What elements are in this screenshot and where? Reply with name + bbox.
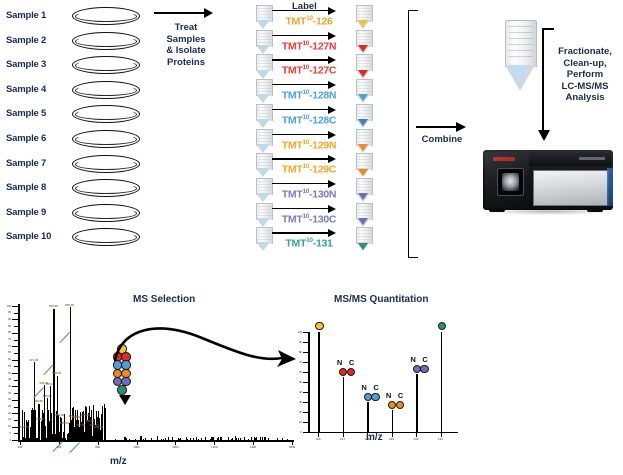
msms-x-axis-label: m/z (366, 432, 383, 443)
msms-spectrum-plot: 0102030405060708090100126127N C128N C129… (292, 304, 522, 454)
down-arrow-icon (119, 395, 131, 405)
right-arrow-icon (272, 155, 338, 163)
ms-y-tick (14, 326, 18, 327)
reporter-channel-dot (315, 322, 323, 330)
petri-dish-icon (72, 105, 140, 123)
ms-x-tick-label: 1000 (126, 445, 148, 449)
down-arrow-icon (542, 28, 544, 132)
sample-tube-icon (356, 104, 371, 128)
ms-noise-peak (254, 437, 255, 440)
ms-noise-peak (248, 439, 249, 440)
ms-peak (73, 419, 74, 440)
sample-tube-icon (356, 30, 371, 54)
msms-y-tick-label: 70 (292, 361, 302, 364)
tmt-channel-label: TMT10-130N (266, 188, 352, 201)
instrument-brand-mark (579, 157, 605, 160)
ms-y-tick-label: 20 (0, 412, 11, 415)
ms-y-tick (12, 413, 18, 414)
mass-spectrometer-icon (483, 150, 615, 218)
sample-label: Sample 3 (6, 59, 68, 70)
treat-caption-line-1: Treat (150, 22, 222, 34)
ms-y-tick (14, 353, 18, 354)
ms-peak (41, 421, 42, 440)
ms-peak-label: 604.00 (55, 413, 64, 417)
tmt-channel-label: TMT10-128N (266, 89, 352, 102)
ms-y-tick (14, 420, 18, 421)
ms-y-tick (14, 366, 18, 367)
ms-y-tick (12, 427, 18, 428)
sample-label: Sample 10 (6, 231, 68, 242)
tmt-channel-row: TMT10-128C (250, 104, 410, 129)
ms-noise-peak (115, 439, 116, 440)
sample-tube-icon (356, 227, 371, 251)
right-arrow-icon (272, 106, 338, 114)
sample-tube-icon (356, 178, 371, 202)
ms-noise-peak (265, 437, 266, 440)
ms-y-tick (12, 386, 18, 387)
ms-peak (47, 398, 48, 440)
ms-y-tick-label: 0 (0, 439, 11, 442)
fractionate-analysis-step: Fractionate, Clean-up, Perform LC-MS/MS … (539, 28, 619, 150)
sample-row: Sample 5 (0, 104, 150, 125)
analysis-caption: Fractionate, Clean-up, Perform LC-MS/MS … (550, 46, 620, 104)
ms-y-tick (12, 319, 18, 320)
reporter-nc-label: N C (361, 383, 381, 392)
petri-dish-icon (72, 56, 140, 74)
ms-noise-peak (143, 439, 144, 440)
right-arrow-icon (272, 32, 338, 40)
treat-caption-line-4: Proteins (150, 57, 222, 69)
tmt-channel-row: TMT10-129C (250, 153, 410, 178)
ms-noise-peak (180, 438, 181, 440)
msms-y-axis (308, 332, 310, 432)
sample-row: Sample 6 (0, 129, 150, 150)
ms-noise-peak (240, 438, 241, 440)
sample-row: Sample 10 (0, 227, 150, 248)
ms-peak (157, 436, 158, 440)
analysis-caption-line-5: Analysis (550, 92, 620, 104)
msms-y-tick-label: 50 (292, 381, 302, 384)
ms-peak (186, 437, 187, 440)
ms-y-tick-label: 5 (0, 432, 11, 435)
sample-tube-icon (356, 129, 371, 153)
ms-peak (24, 429, 25, 440)
reporter-ion-peak (367, 402, 369, 432)
ms-noise-peak (211, 439, 212, 440)
ms-y-tick-label: 70 (0, 345, 11, 348)
ms-noise-peak (232, 438, 233, 440)
ms-peak-label: 805.00 (94, 425, 103, 429)
ms-y-tick (14, 393, 18, 394)
ms-y-tick (12, 306, 18, 307)
reporter-nc-label: N C (410, 355, 430, 364)
msms-y-tick (303, 352, 308, 353)
ms-noise-peak (201, 438, 202, 440)
ms-peak (81, 428, 82, 440)
ms-noise-peak (161, 439, 162, 440)
instrument-body (483, 150, 613, 210)
ms-x-tick-label: 1600 (242, 445, 264, 449)
petri-dish-icon (72, 179, 140, 197)
reporter-ion-peak (441, 332, 443, 432)
right-arrow-icon (272, 205, 338, 213)
ms-noise-peak (251, 437, 252, 440)
msms-y-tick-label: 80 (292, 351, 302, 354)
combine-label: Combine (412, 134, 472, 145)
bracket-tick (542, 28, 554, 30)
analysis-caption-line-1: Fractionate, (550, 46, 620, 58)
ms-y-tick (12, 346, 18, 347)
sample-label: Sample 7 (6, 158, 68, 169)
msms-y-tick-label: 90 (292, 341, 302, 344)
msms-y-tick (303, 332, 308, 333)
msms-x-tick-label: 130 (406, 437, 426, 441)
ms-y-tick-label: 35 (0, 392, 11, 395)
ms-y-tick-label: 65 (0, 351, 11, 354)
ms-y-tick-label: 45 (0, 378, 11, 381)
ms-peak (228, 437, 229, 440)
petri-dish-icon (72, 81, 140, 99)
tmt-channel-row: TMT10-129N (250, 129, 410, 154)
ms-noise-peak (282, 438, 283, 440)
msms-y-tick-label: 0 (292, 431, 302, 434)
reporter-ion-peak (392, 410, 394, 432)
ms-y-tick (12, 400, 18, 401)
ms-y-tick (12, 333, 18, 334)
tmt-channel-row: TMT10-130N (250, 178, 410, 203)
ms-noise-peak (67, 435, 68, 440)
sample-tube-icon (356, 5, 371, 29)
instrument-foot-right (587, 208, 603, 212)
ms-y-tick-label: 15 (0, 418, 11, 421)
analysis-caption-line-4: LC-MS/MS (550, 81, 620, 93)
reporter-channel-dot (347, 368, 355, 376)
petri-dish-icon (72, 130, 140, 148)
right-arrow-icon (272, 81, 338, 89)
ms-noise-peak (190, 438, 191, 440)
sample-label: Sample 9 (6, 207, 68, 218)
msms-y-tick (303, 402, 308, 403)
instrument-front-panel (533, 170, 609, 206)
petri-dish-icon (72, 32, 140, 50)
ms-noise-peak (165, 438, 166, 440)
ms-peak (172, 437, 173, 440)
ms-y-tick (14, 433, 18, 434)
ms-peak (94, 428, 95, 440)
tmt-channel-row: TMT10-126 (250, 5, 410, 30)
ms-leader-line (59, 332, 69, 343)
tmt-channel-row: TMT10-127N (250, 30, 410, 55)
ms-noise-peak (236, 438, 237, 440)
sample-tube-icon (356, 79, 371, 103)
right-arrow-icon (150, 8, 222, 18)
ms-noise-peak (135, 439, 136, 440)
petri-dish-icon (72, 7, 140, 25)
msms-spectrum-panel: MS/MS Quantitation 010203040506070809010… (292, 292, 623, 475)
reporter-channel-dot (420, 365, 428, 373)
ms-peak (140, 436, 141, 440)
ms-noise-peak (151, 438, 152, 440)
msms-y-tick-label: 60 (292, 371, 302, 374)
right-arrow-icon (272, 131, 338, 139)
ms-noise-peak (78, 427, 79, 440)
ms-peak-label: 712.00 (76, 423, 85, 427)
ms-y-tick-label: 25 (0, 405, 11, 408)
ms-y-tick-label: 55 (0, 365, 11, 368)
petri-dish-icon (72, 228, 140, 246)
ms-y-tick-label: 95 (0, 311, 11, 314)
ms-noise-peak (168, 437, 169, 440)
ms-y-tick-label: 60 (0, 358, 11, 361)
ms-noise-peak (37, 438, 38, 440)
ms-noise-peak (268, 438, 269, 440)
msms-x-tick-label: 131 (431, 437, 451, 441)
ms-peak-label: 690.00 (72, 415, 81, 419)
microcentrifuge-tube-icon (505, 20, 535, 92)
ms-x-axis-label: m/z (110, 456, 127, 467)
tmt-channel-label: TMT10-131 (266, 237, 352, 250)
sample-label: Sample 2 (6, 35, 68, 46)
ms-peak-label: 655.00 (65, 303, 74, 307)
combine-step: Combine (408, 10, 478, 258)
ms-x-tick-label: 800 (87, 445, 109, 449)
tmt-labeling-section: Label TMT10-126TMT10-127NTMT10-127CTMT10… (250, 0, 410, 270)
reporter-channel-dot (438, 322, 446, 330)
sample-label: Sample 8 (6, 182, 68, 193)
sample-row: Sample 4 (0, 80, 150, 101)
ms-y-tick (12, 373, 18, 374)
petri-dish-icon (72, 155, 140, 173)
msms-x-tick-label: 126 (308, 437, 328, 441)
right-arrow-icon (272, 229, 338, 237)
ms-noise-peak (126, 438, 127, 440)
reporter-ion-peak (416, 374, 418, 432)
down-arrow-head (538, 130, 550, 141)
ms-noise-peak (231, 439, 232, 440)
tmt-channel-label: TMT10-128C (266, 114, 352, 127)
sample-row: Sample 9 (0, 203, 150, 224)
ms-y-tick (14, 407, 18, 408)
ms-y-tick-label: 75 (0, 338, 11, 341)
right-arrow-icon (272, 180, 338, 188)
msms-x-axis (308, 432, 458, 433)
ms-peak (50, 386, 51, 440)
ms-peak (57, 376, 58, 440)
ms-noise-peak (129, 439, 130, 440)
tmt-channel-row: TMT10-131 (250, 227, 410, 252)
sample-row: Sample 2 (0, 31, 150, 52)
tmt-channel-label: TMT10-130C (266, 213, 352, 226)
ms-noise-peak (71, 420, 72, 440)
msms-y-tick (303, 372, 308, 373)
msms-y-tick (303, 342, 308, 343)
ms-peak-label: 628.00 (60, 421, 69, 425)
tmt-channel-label: TMT10-127N (266, 40, 352, 53)
msms-y-tick (303, 382, 308, 383)
petri-dish-icon (72, 204, 140, 222)
source-port (497, 168, 524, 196)
ms-noise-peak (83, 432, 84, 440)
instrument-top-bar (529, 152, 611, 166)
sample-tube-icon (356, 54, 371, 78)
reporter-nc-label: N C (386, 391, 406, 400)
msms-x-tick-label: 127 (333, 437, 353, 441)
reporter-channel-dot (371, 393, 379, 401)
ms-leader-line (69, 442, 79, 453)
msms-y-tick-label: 100 (292, 331, 302, 334)
treat-caption-line-3: & Isolate (150, 45, 222, 57)
ms-x-tick-label: 1200 (164, 445, 186, 449)
ms-peak (64, 425, 65, 440)
ms-y-tick-label: 100 (0, 305, 11, 308)
ms-peak-label: 495.00 (34, 399, 43, 403)
msms-y-tick-label: 20 (292, 411, 302, 414)
sample-label: Sample 1 (6, 10, 68, 21)
curved-arrow-icon (110, 300, 300, 390)
ms-noise-peak (145, 439, 146, 440)
source-port-inner (502, 173, 519, 191)
ms-x-tick-label: 400 (9, 445, 31, 449)
ms-noise-peak (198, 439, 199, 440)
ms-noise-peak (163, 439, 164, 440)
right-arrow-icon (272, 7, 338, 15)
tmt-channel-row: TMT10-130C (250, 203, 410, 228)
ms-noise-peak (235, 436, 236, 440)
ms-y-tick (12, 360, 18, 361)
ms-noise-peak (238, 438, 239, 440)
ms-noise-peak (30, 427, 31, 440)
sample-row: Sample 1 (0, 6, 150, 27)
ms-noise-peak (218, 437, 219, 440)
msms-y-tick (303, 392, 308, 393)
sample-tube-icon (356, 203, 371, 227)
ms-noise-peak (102, 437, 103, 440)
ms-noise-peak (27, 439, 28, 440)
msms-y-tick (303, 422, 308, 423)
msms-y-tick-label: 30 (292, 401, 302, 404)
instrument-left-module (485, 152, 529, 208)
samples-column: Sample 1Sample 2Sample 3Sample 4Sample 5… (0, 0, 150, 270)
ms-noise-peak (210, 439, 211, 440)
ms-noise-peak (105, 438, 106, 440)
ms-y-tick-label: 80 (0, 331, 11, 334)
ms-y-tick-label: 90 (0, 318, 11, 321)
analysis-caption-line-3: Perform (550, 69, 620, 81)
ms-peak-label: 471.00 (29, 358, 38, 362)
sample-label: Sample 6 (6, 133, 68, 144)
tmt-channel-row: TMT10-128N (250, 79, 410, 104)
ms-x-tick-label: 1400 (203, 445, 225, 449)
reporter-channel-dot (396, 401, 404, 409)
instrument-foot-left (489, 208, 505, 212)
ms-y-tick (14, 313, 18, 314)
ms-y-tick-label: 85 (0, 325, 11, 328)
sample-row: Sample 8 (0, 178, 150, 199)
ms-peak-label: 572.00 (49, 304, 58, 308)
ms-noise-peak (221, 438, 222, 440)
sample-row: Sample 7 (0, 154, 150, 175)
ms-peak (70, 307, 71, 440)
tmt-channel-label: TMT10-127C (266, 64, 352, 77)
ms-y-tick-label: 50 (0, 372, 11, 375)
ms-y-tick-label: 40 (0, 385, 11, 388)
ms-peak (256, 437, 257, 440)
instrument-accent-stripe (607, 168, 613, 206)
ms-noise-peak (260, 437, 261, 440)
msms-y-tick-label: 40 (292, 391, 302, 394)
brand-logo-icon (493, 157, 515, 161)
tmt-channel-label: TMT10-129N (266, 139, 352, 152)
ms-noise-peak (287, 439, 288, 440)
ms-peak (213, 437, 214, 440)
tmt-channel-label: TMT10-129C (266, 163, 352, 176)
msms-y-tick-label: 10 (292, 421, 302, 424)
sample-row: Sample 3 (0, 55, 150, 76)
ms-noise-peak (52, 436, 53, 440)
right-arrow-icon (416, 122, 472, 132)
ms-y-axis (18, 304, 20, 440)
treat-caption-line-2: Samples (150, 34, 222, 46)
sample-label: Sample 4 (6, 84, 68, 95)
ms-peak-label: 422.00 (20, 425, 29, 429)
ms-y-tick (14, 340, 18, 341)
msms-y-tick (303, 432, 308, 433)
ms-y-tick (14, 380, 18, 381)
ms-peak-label: 588.00 (52, 371, 61, 375)
ms-noise-peak (196, 437, 197, 440)
right-arrow-icon (272, 56, 338, 64)
treat-samples-caption: Treat Samples & Isolate Proteins (150, 22, 222, 68)
ms-peak-label: 735.00 (81, 413, 90, 417)
ms-y-tick-label: 10 (0, 425, 11, 428)
ms-y-tick-label: 30 (0, 398, 11, 401)
sample-tube-icon (356, 153, 371, 177)
analysis-caption-line-2: Clean-up, (550, 58, 620, 70)
tmt-channel-label: TMT10-126 (266, 15, 352, 28)
msms-x-tick-label: 129 (382, 437, 402, 441)
ms-noise-peak (205, 437, 206, 440)
ms-peak (38, 404, 39, 440)
reporter-ion-peak (343, 377, 345, 432)
ms-y-tick (12, 440, 18, 441)
msms-y-tick (303, 362, 308, 363)
ms-noise-peak (244, 437, 245, 440)
treat-samples-step: Treat Samples & Isolate Proteins (150, 8, 222, 68)
ms-peak (99, 429, 100, 440)
tmt-channel-row: TMT10-127C (250, 54, 410, 79)
msms-y-tick (303, 412, 308, 413)
reporter-ion-peak (318, 332, 320, 432)
ms-noise-peak (277, 438, 278, 440)
reporter-nc-label: N C (337, 358, 357, 367)
ms-noise-peak (193, 438, 194, 440)
sample-label: Sample 5 (6, 108, 68, 119)
ms-noise-peak (262, 437, 263, 440)
